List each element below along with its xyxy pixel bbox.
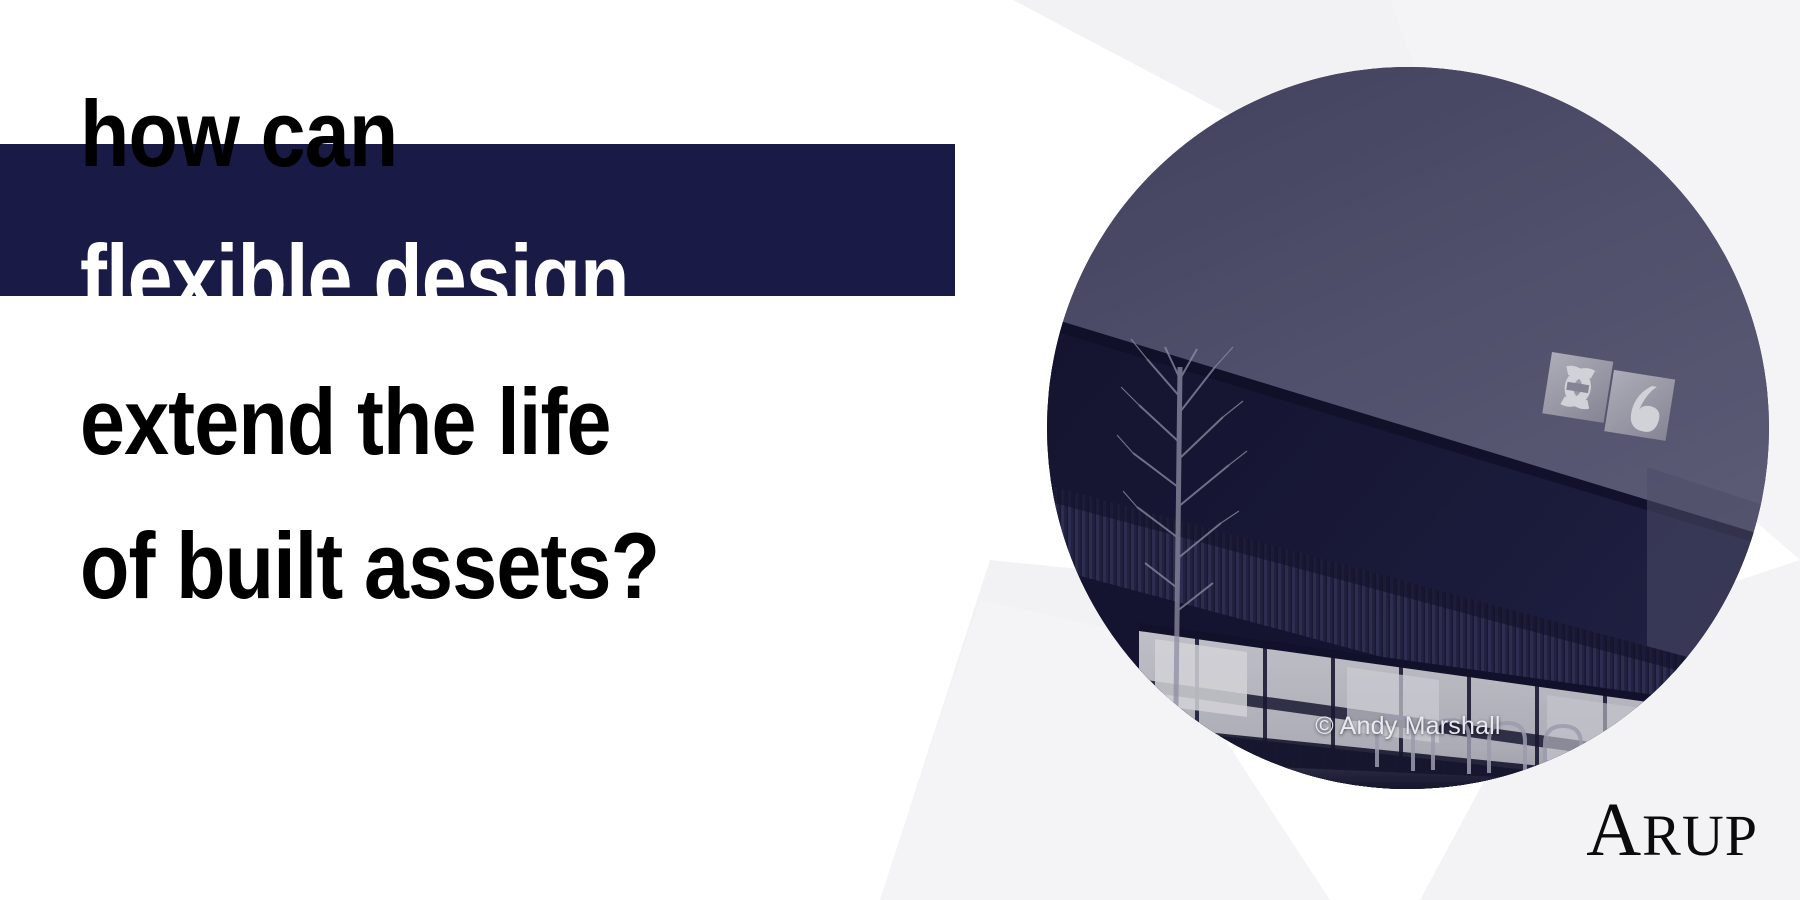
- banner-canvas: how can flexible design extend the life …: [0, 0, 1800, 900]
- arup-logo: ARUP: [1586, 792, 1758, 868]
- arup-logo-letters-rup: RUP: [1642, 807, 1758, 865]
- arup-logo-letter-a: A: [1586, 792, 1642, 868]
- headline-line-1: how can: [0, 62, 860, 206]
- photo-credit: © Andy Marshall: [1047, 712, 1769, 741]
- headline: how can flexible design extend the life …: [0, 62, 1000, 638]
- headline-line-4: of built assets?: [0, 494, 860, 638]
- hero-photo-image: [1047, 67, 1769, 789]
- hero-photo-circle: © Andy Marshall: [1047, 67, 1769, 789]
- headline-line-3: extend the life: [0, 350, 860, 494]
- headline-line-2: flexible design: [0, 206, 860, 350]
